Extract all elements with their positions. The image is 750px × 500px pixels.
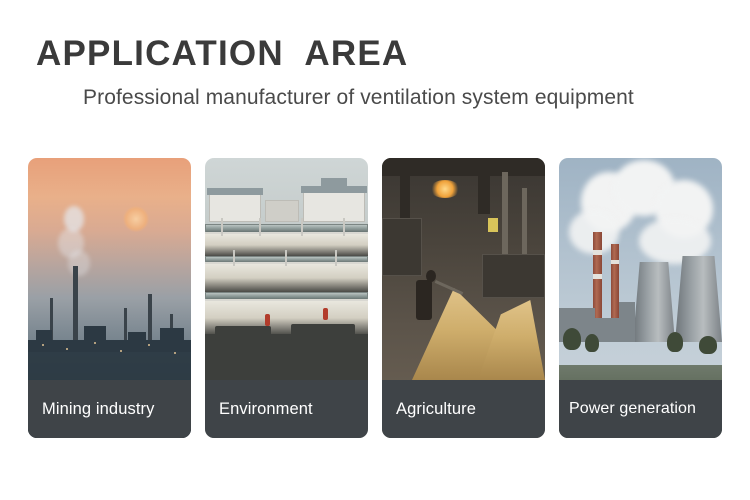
application-card-label: Agriculture	[382, 380, 545, 438]
application-card-label: Mining industry	[28, 380, 191, 438]
application-card-mining-industry[interactable]: Mining industry	[28, 158, 191, 438]
application-card-label: Environment	[205, 380, 368, 438]
page-subtitle: Professional manufacturer of ventilation…	[83, 86, 634, 110]
application-card-label: Power generation	[559, 380, 722, 438]
application-area-page: APPLICATION AREA Professional manufactur…	[0, 0, 750, 500]
application-card-environment[interactable]: Environment	[205, 158, 368, 438]
application-card-agriculture[interactable]: Agriculture	[382, 158, 545, 438]
application-card-list: Mining industry	[28, 158, 722, 438]
page-title: APPLICATION AREA	[36, 34, 408, 74]
application-card-power-generation[interactable]: Power generation	[559, 158, 722, 438]
